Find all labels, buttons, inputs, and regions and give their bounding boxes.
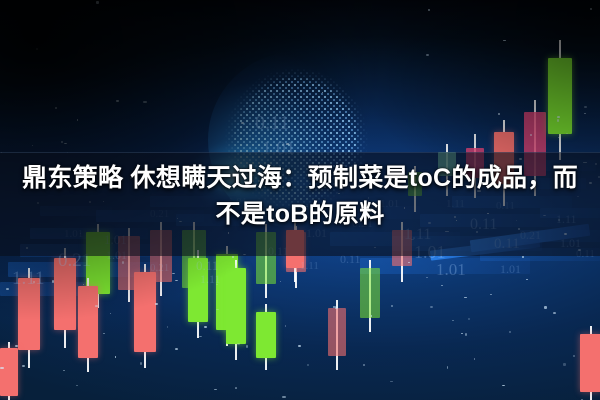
caption-band-edge bbox=[0, 152, 600, 153]
headline: 鼎东策略 休想瞒天过海：预制菜是toC的成品，而 不是toB的原料 bbox=[0, 160, 600, 232]
headline-line-1: 鼎东策略 休想瞒天过海：预制菜是toC的成品，而 bbox=[6, 160, 594, 196]
hero-banner: 0.111.010.211.111.010.111.011.110.111.01… bbox=[0, 0, 600, 400]
headline-line-2: 不是toB的原料 bbox=[6, 196, 594, 232]
